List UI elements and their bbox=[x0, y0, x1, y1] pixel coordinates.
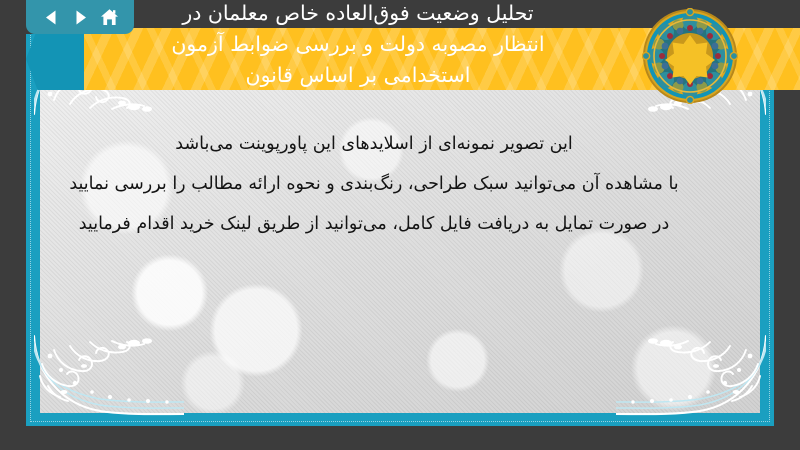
forward-button[interactable] bbox=[70, 7, 90, 27]
navigation-bar bbox=[26, 0, 134, 34]
body-line-3: در صورت تمایل به دریافت فایل کامل، می‌تو… bbox=[40, 204, 708, 244]
presentation-viewer: این تصویر نمونه‌ای از اسلایدهای این پاور… bbox=[0, 0, 800, 450]
triangle-left-icon bbox=[43, 9, 60, 26]
home-button[interactable] bbox=[99, 7, 119, 27]
persian-medallion-icon bbox=[642, 8, 738, 104]
body-line-1: این تصویر نمونه‌ای از اسلایدهای این پاور… bbox=[40, 124, 708, 164]
home-icon bbox=[100, 8, 119, 27]
back-button[interactable] bbox=[41, 7, 61, 27]
slide-body-text: این تصویر نمونه‌ای از اسلایدهای این پاور… bbox=[40, 124, 708, 244]
triangle-right-icon bbox=[72, 9, 89, 26]
body-line-2: با مشاهده آن می‌توانید سبک طراحی، رنگ‌بن… bbox=[40, 164, 708, 204]
